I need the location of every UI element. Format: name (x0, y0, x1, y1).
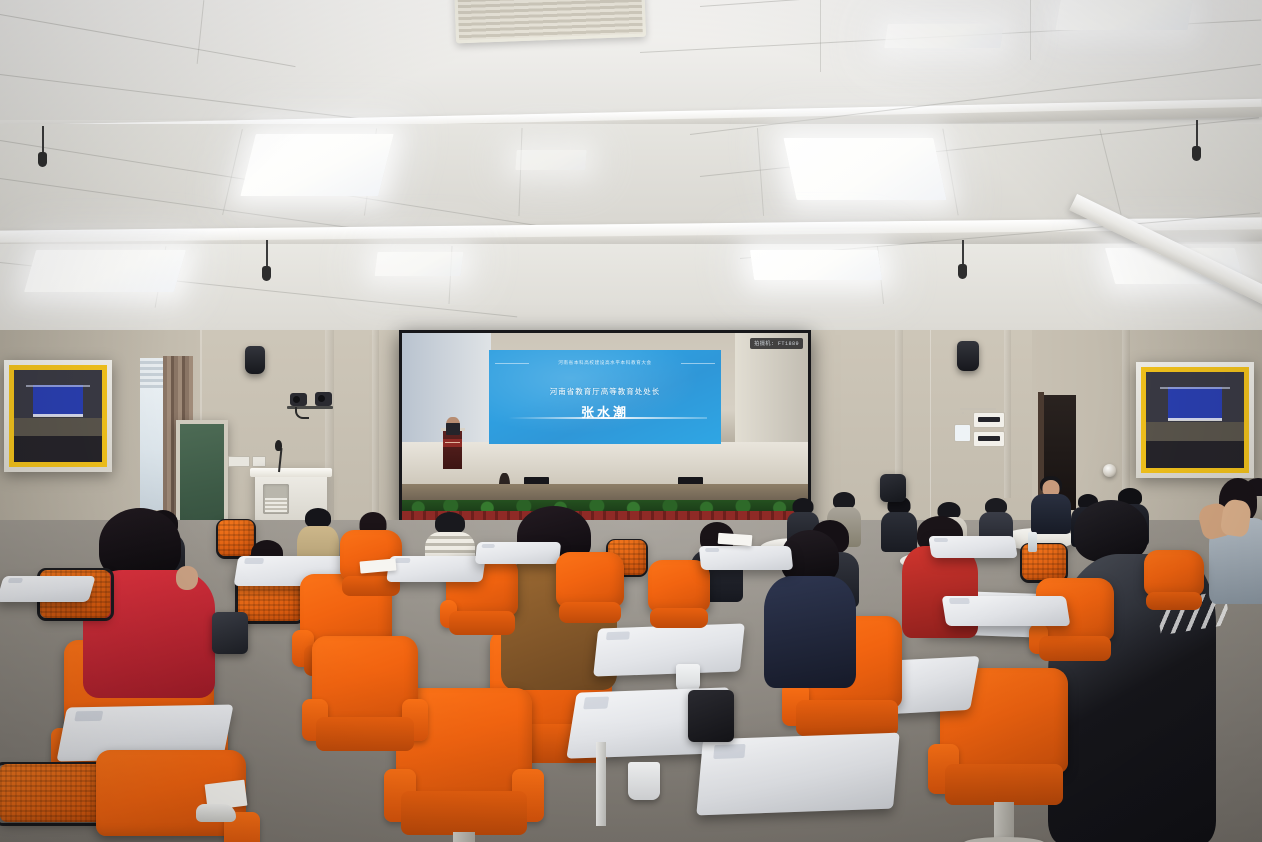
tablet-arm-chair[interactable] (648, 560, 710, 632)
monitor-slide-line (26, 385, 89, 387)
ceiling-hanger-head (958, 264, 967, 279)
wall-socket (252, 456, 266, 467)
chair-tablet-arm[interactable] (475, 542, 561, 564)
shoe (196, 804, 236, 822)
monitor-yellow-bezel (9, 365, 107, 467)
recessed-led-panel (24, 250, 186, 292)
right-wall-monitor[interactable] (1136, 362, 1254, 478)
ceiling-hanger-head (1192, 146, 1201, 161)
chair-seat (401, 791, 526, 835)
recessed-led-panel (375, 252, 464, 276)
monitor-slide-line (33, 414, 82, 417)
wall-speaker-right (957, 341, 979, 371)
chair-seat (650, 608, 707, 628)
chair-tablet-arm[interactable] (942, 596, 1071, 626)
monitor-slide-area (1168, 387, 1223, 420)
chair-seat (1039, 636, 1111, 661)
cassette-ac-vent (454, 0, 646, 43)
slide-subtitle-text: 河南省教育厅高等教育处处长 (489, 386, 720, 397)
ceiling-grid-line (820, 0, 821, 72)
ceiling-dome-camera (1103, 464, 1116, 477)
monitor-screen (14, 370, 102, 462)
wall-pilaster (372, 320, 379, 535)
recessed-led-panel (783, 138, 946, 200)
recessed-led-panel (240, 134, 393, 196)
monitor-slide-area (33, 385, 82, 416)
cup-holder (628, 762, 660, 800)
chair-seat (316, 717, 414, 751)
chair-back (556, 552, 624, 607)
lecture-hall-photo: 河南省本科高校建设高水平本科教育大会 河南省教育厅高等教育处处长 张水潮 拍摄机… (0, 0, 1262, 842)
relay-stage-floor (402, 442, 808, 485)
shoulder-bag (880, 474, 906, 502)
monitor-slide-line (1168, 418, 1223, 421)
relay-slide: 河南省本科高校建设高水平本科教育大会 河南省教育厅高等教育处处长 张水潮 (489, 350, 720, 443)
chair-tablet-arm[interactable] (699, 546, 794, 570)
relay-speaker-person (446, 417, 460, 434)
relay-podium-banner (443, 439, 462, 448)
slide-divider (508, 417, 707, 419)
tablet-arm-chair[interactable] (312, 636, 418, 758)
wall-speaker-left (245, 346, 265, 374)
projection-screen[interactable]: 河南省本科高校建设高水平本科教育大会 河南省教育厅高等教育处处长 张水潮 拍摄机… (399, 330, 811, 530)
camera-shelf (287, 406, 333, 409)
recessed-led-panel (884, 24, 1004, 48)
shoulder-bag (688, 690, 734, 742)
camera-lens-icon (318, 395, 325, 402)
camera-lens-icon (293, 396, 300, 403)
monitor-yellow-bezel (1141, 367, 1249, 473)
chair-caster-base (963, 837, 1045, 842)
ceiling (0, 0, 1262, 330)
tablet-arm-chair[interactable] (1144, 550, 1204, 614)
chair-tablet-arm[interactable] (386, 556, 486, 582)
relay-hall-wall-right (735, 333, 808, 446)
shoulder-bag (212, 612, 248, 654)
recessed-led-panel (750, 250, 882, 280)
lectern-vent (265, 498, 287, 512)
chair-back (1144, 550, 1204, 596)
monitor-slide-line (1160, 387, 1231, 389)
chair-pedestal (994, 802, 1014, 840)
ceiling-tile-field (0, 244, 1262, 330)
monitor-screen (1146, 372, 1244, 468)
chair-back (648, 560, 710, 612)
chair-tablet-arm[interactable] (696, 733, 899, 816)
tablet-support-post (596, 742, 606, 826)
chair-seat (559, 602, 622, 623)
chair-tablet-arm[interactable] (928, 536, 1017, 558)
person-hair (435, 512, 465, 534)
water-bottle (1028, 532, 1037, 552)
wall-socket (228, 456, 250, 467)
relay-podium (443, 430, 462, 469)
person-hair (1074, 500, 1148, 562)
recessed-led-panel (515, 150, 586, 170)
ceiling-hanger-head (38, 152, 47, 167)
wall-pilaster (1004, 318, 1011, 498)
tablet-arm-chair[interactable] (556, 552, 624, 628)
relay-video-feed: 河南省本科高校建设高水平本科教育大会 河南省教育厅高等教育处处长 张水潮 拍摄机… (402, 333, 808, 527)
chair-seat (449, 611, 515, 635)
left-wall-monitor[interactable] (4, 360, 112, 472)
ceiling-tile-field (0, 124, 1262, 232)
chair-seat (945, 764, 1063, 805)
camera-watermark-label: 拍摄机: FT1889 (750, 338, 803, 349)
slide-eyebrow-text: 河南省本科高校建设高水平本科教育大会 (489, 360, 720, 366)
wall-corner (930, 300, 931, 530)
hand (176, 566, 198, 590)
camera-cable (295, 407, 309, 419)
chair-pedestal (453, 832, 475, 842)
lectern-top-surface (250, 468, 332, 477)
person-torso (764, 576, 856, 688)
ceiling-hanger-head (262, 266, 271, 281)
handout-paper (718, 533, 753, 546)
gooseneck-microphone (275, 440, 282, 451)
recessed-led-panel (1055, 0, 1192, 30)
chair-seat (796, 700, 897, 736)
chair-seat (1146, 592, 1201, 610)
chair-tablet-arm[interactable] (0, 576, 96, 602)
person-hair (305, 508, 331, 528)
ceiling-grid-line (1030, 0, 1031, 60)
